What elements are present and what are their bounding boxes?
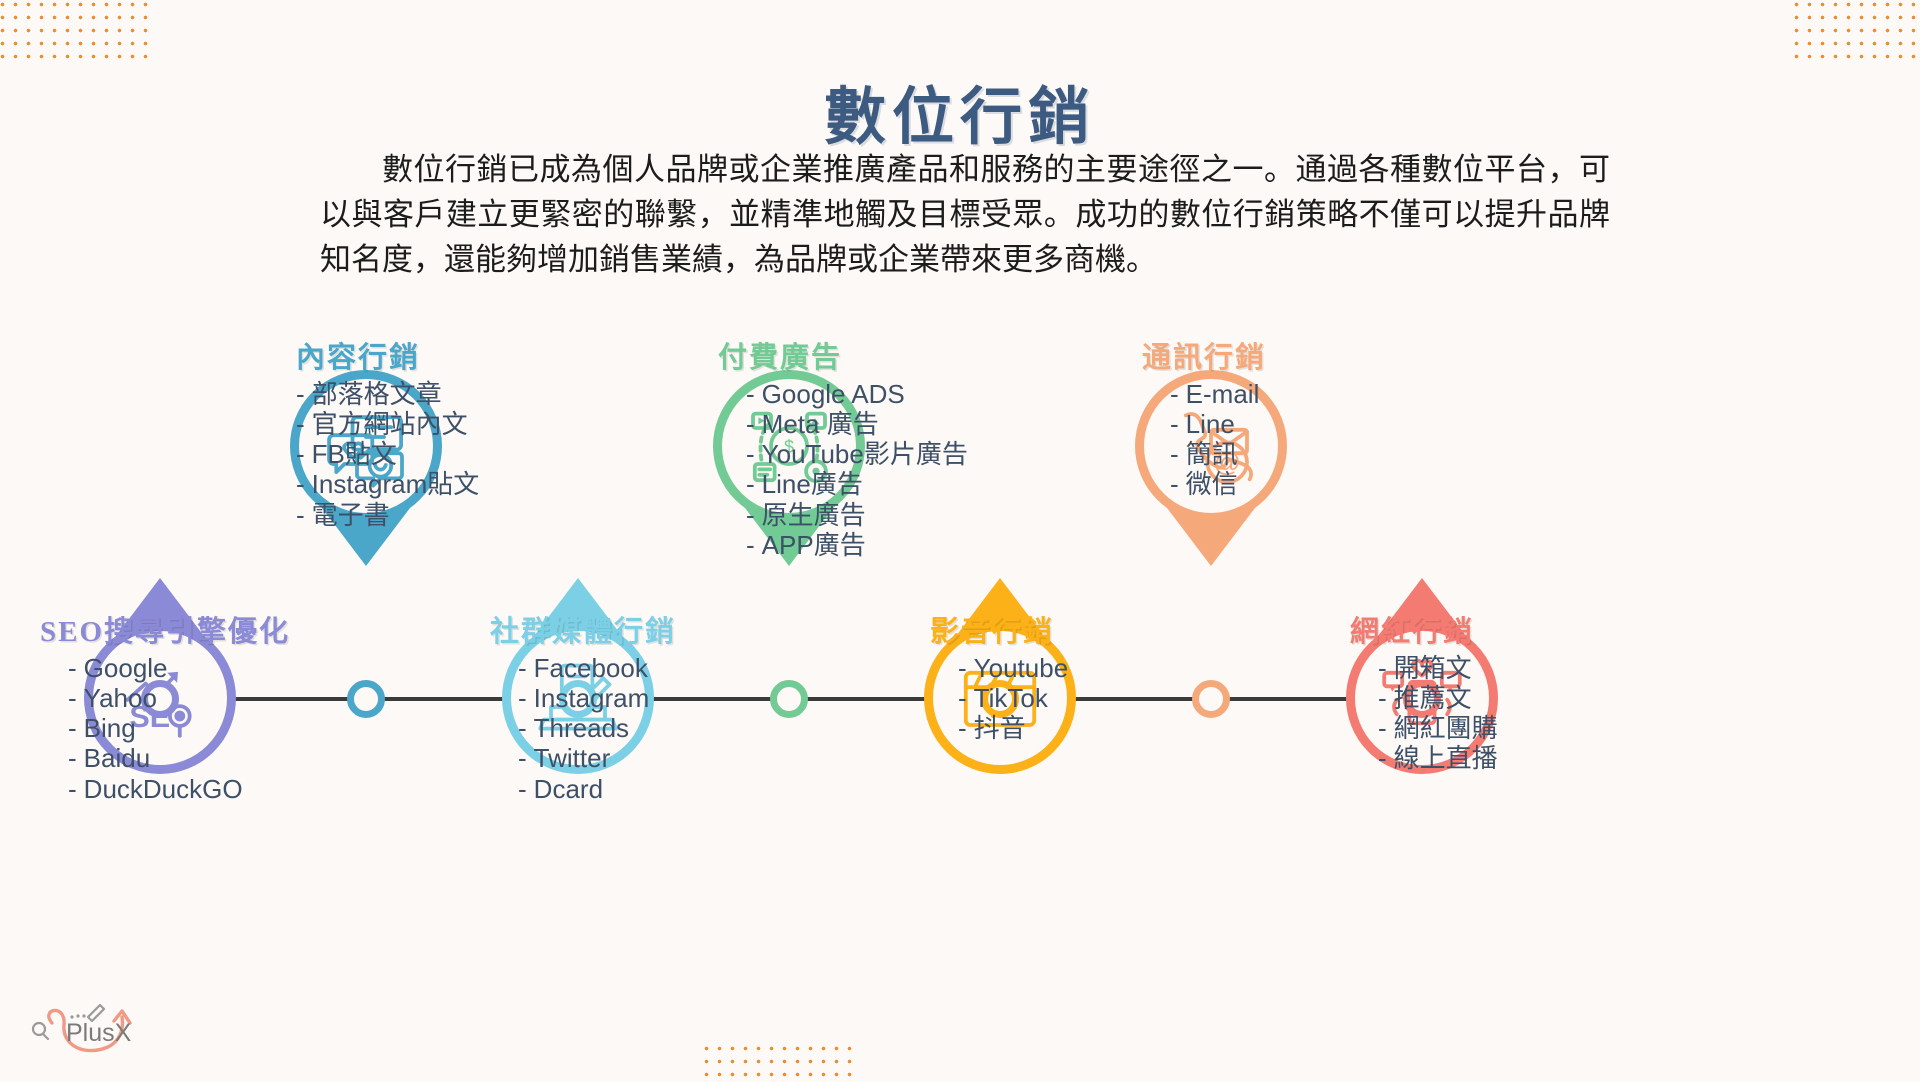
list-item: -DuckDuckGO (68, 774, 370, 804)
list-marker: - (1378, 683, 1387, 713)
list-item: -E-mail (1170, 379, 1472, 409)
list-item-label: Instagram (534, 683, 650, 713)
category-title-paid: 付費廣告 (718, 334, 1048, 376)
list-marker: - (1378, 653, 1387, 683)
category-title-influencer: 網紅行銷 (1350, 608, 1680, 650)
category-block-messaging: 通訊行銷-E-mail-Line-簡訊-微信 (1142, 334, 1472, 500)
list-marker: - (1170, 469, 1179, 499)
list-item-label: 開箱文 (1394, 653, 1472, 683)
list-item-label: DuckDuckGO (84, 774, 243, 804)
list-item-label: Meta 廣告 (762, 409, 879, 439)
list-marker: - (746, 379, 755, 409)
list-marker: - (1170, 439, 1179, 469)
list-item: -Line (1170, 409, 1472, 439)
list-item: -FB貼文 (296, 439, 626, 469)
list-marker: - (746, 409, 755, 439)
list-item-label: Google ADS (762, 379, 905, 409)
page-title: 數位行銷 (0, 66, 1920, 156)
list-marker: - (1378, 713, 1387, 743)
plusx-logo: PlusX (22, 995, 152, 1065)
category-block-paid: 付費廣告-Google ADS-Meta 廣告-YouTube影片廣告-Line… (718, 334, 1048, 560)
list-marker: - (68, 713, 77, 743)
list-item-label: Baidu (84, 743, 151, 773)
list-marker: - (958, 683, 967, 713)
list-item-label: 微信 (1186, 469, 1238, 499)
category-title-messaging: 通訊行銷 (1142, 334, 1472, 376)
list-item: -原生廣告 (746, 500, 1048, 530)
category-list-messaging: -E-mail-Line-簡訊-微信 (1142, 379, 1472, 500)
list-marker: - (746, 500, 755, 530)
list-item: -簡訊 (1170, 439, 1472, 469)
list-marker: - (296, 439, 305, 469)
list-marker: - (68, 774, 77, 804)
list-item: -Meta 廣告 (746, 409, 1048, 439)
list-item-label: 線上直播 (1394, 743, 1498, 773)
list-marker: - (296, 469, 305, 499)
category-block-influencer: 網紅行銷-開箱文-推薦文-網紅團購-線上直播 (1350, 608, 1680, 774)
list-item: -開箱文 (1378, 653, 1680, 683)
list-item: -微信 (1170, 469, 1472, 499)
list-item: -Twitter (518, 743, 820, 773)
list-item-label: YouTube影片廣告 (762, 439, 968, 469)
list-item: -Threads (518, 713, 820, 743)
list-marker: - (518, 713, 527, 743)
list-item-label: Threads (534, 713, 629, 743)
list-item: -線上直播 (1378, 743, 1680, 773)
list-item: -Yahoo (68, 683, 370, 713)
list-item: -Facebook (518, 653, 820, 683)
list-item: -Line廣告 (746, 469, 1048, 499)
list-item-label: 推薦文 (1394, 683, 1472, 713)
category-title-social: 社群媒體行銷 (490, 608, 820, 650)
category-list-paid: -Google ADS-Meta 廣告-YouTube影片廣告-Line廣告-原… (718, 379, 1048, 560)
list-marker: - (958, 713, 967, 743)
list-item: -抖音 (958, 713, 1260, 743)
list-item-label: 電子書 (312, 500, 390, 530)
logo-wordmark: PlusX (66, 1019, 131, 1048)
category-list-seo: -Google-Yahoo-Bing-Baidu-DuckDuckGO (40, 653, 370, 804)
list-item: -官方網站內文 (296, 409, 626, 439)
list-marker: - (1170, 409, 1179, 439)
timeline-node-dot-paid[interactable] (770, 680, 808, 718)
list-item-label: Google (84, 653, 168, 683)
category-list-content: -部落格文章-官方網站內文-FB貼文-Instagram貼文-電子書 (296, 379, 626, 530)
list-item-label: APP廣告 (762, 530, 866, 560)
list-marker: - (1378, 743, 1387, 773)
timeline-node-dot-messaging[interactable] (1192, 680, 1230, 718)
list-marker: - (68, 653, 77, 683)
list-marker: - (746, 469, 755, 499)
list-item: -Instagram貼文 (296, 469, 626, 499)
list-item: -Google ADS (746, 379, 1048, 409)
decorative-dot-grid-top-right (1790, 0, 1920, 60)
list-marker: - (296, 379, 305, 409)
list-item: -推薦文 (1378, 683, 1680, 713)
list-item-label: FB貼文 (312, 439, 397, 469)
timeline-node-dot-content[interactable] (347, 680, 385, 718)
decorative-dot-grid-top-left (0, 0, 156, 60)
list-marker: - (958, 653, 967, 683)
list-item: -Google (68, 653, 370, 683)
list-item: -Dcard (518, 774, 820, 804)
category-block-seo: SEO搜尋引擎優化-Google-Yahoo-Bing-Baidu-DuckDu… (40, 608, 370, 804)
list-item-label: 網紅團購 (1394, 713, 1498, 743)
list-marker: - (296, 409, 305, 439)
list-item-label: Dcard (534, 774, 603, 804)
list-marker: - (518, 653, 527, 683)
list-item: -網紅團購 (1378, 713, 1680, 743)
list-marker: - (518, 743, 527, 773)
list-item: -部落格文章 (296, 379, 626, 409)
list-item-label: 部落格文章 (312, 379, 442, 409)
list-item: -APP廣告 (746, 530, 1048, 560)
category-title-seo: SEO搜尋引擎優化 (40, 608, 370, 650)
category-block-video: 影音行銷-Youtube-TikTok-抖音 (930, 608, 1260, 743)
list-item-label: 官方網站內文 (312, 409, 468, 439)
list-item-label: Instagram貼文 (312, 469, 480, 499)
list-item-label: Youtube (974, 653, 1068, 683)
category-title-video: 影音行銷 (930, 608, 1260, 650)
list-marker: - (68, 743, 77, 773)
category-block-content: 內容行銷-部落格文章-官方網站內文-FB貼文-Instagram貼文-電子書 (296, 334, 626, 530)
list-item-label: Bing (84, 713, 136, 743)
list-item-label: TikTok (974, 683, 1048, 713)
list-item-label: Line (1186, 409, 1235, 439)
intro-paragraph: 數位行銷已成為個人品牌或企業推廣產品和服務的主要途徑之一。通過各種數位平台，可以… (320, 148, 1610, 283)
category-list-social: -Facebook-Instagram-Threads-Twitter-Dcar… (490, 653, 820, 804)
list-item: -Bing (68, 713, 370, 743)
list-item: -Baidu (68, 743, 370, 773)
list-item: -YouTube影片廣告 (746, 439, 1048, 469)
list-marker: - (68, 683, 77, 713)
list-item-label: 抖音 (974, 713, 1026, 743)
list-marker: - (296, 500, 305, 530)
list-marker: - (518, 683, 527, 713)
category-title-content: 內容行銷 (296, 334, 626, 376)
list-marker: - (746, 439, 755, 469)
list-marker: - (518, 774, 527, 804)
list-item-label: Line廣告 (762, 469, 863, 499)
category-list-influencer: -開箱文-推薦文-網紅團購-線上直播 (1350, 653, 1680, 774)
list-item-label: E-mail (1186, 379, 1260, 409)
list-marker: - (746, 530, 755, 560)
list-item: -Youtube (958, 653, 1260, 683)
list-item-label: 原生廣告 (762, 500, 866, 530)
list-item: -電子書 (296, 500, 626, 530)
list-marker: - (1170, 379, 1179, 409)
decorative-dot-grid-bottom (700, 1042, 860, 1082)
list-item-label: Yahoo (84, 683, 157, 713)
list-item-label: 簡訊 (1186, 439, 1238, 469)
list-item-label: Facebook (534, 653, 648, 683)
list-item-label: Twitter (534, 743, 611, 773)
